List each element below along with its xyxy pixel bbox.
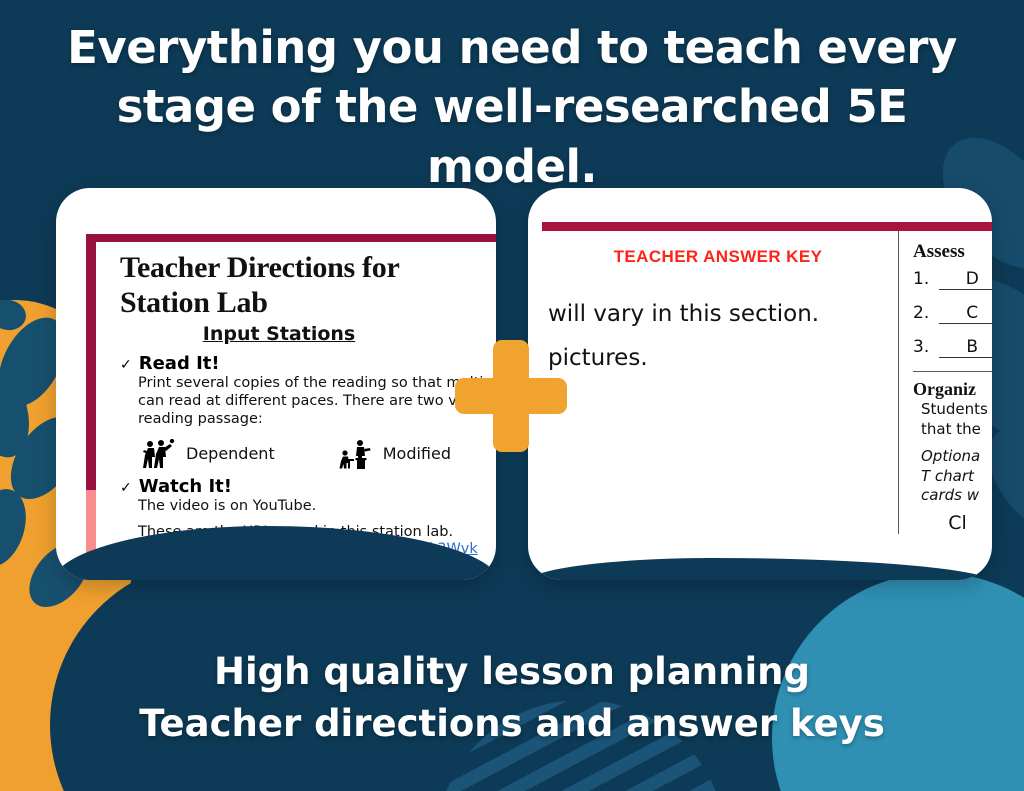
headline-line-1: Everything you need to teach every bbox=[26, 18, 998, 77]
organize-line: that the bbox=[913, 420, 992, 440]
version-icon-row: Dependent bbox=[120, 439, 496, 469]
answer-key-body-line-2: pictures. bbox=[542, 345, 898, 371]
answer-key-main-column: TEACHER ANSWER KEY will vary in this sec… bbox=[542, 231, 898, 534]
document-top-border bbox=[86, 234, 496, 242]
section-heading-label: Watch It! bbox=[139, 476, 232, 497]
left-preview-card[interactable]: Teacher Directions for Station Lab Input… bbox=[56, 188, 496, 580]
answer-key-body-line-1: will vary in this section. bbox=[542, 301, 898, 327]
footer-caption: High quality lesson planning Teacher dir… bbox=[0, 646, 1024, 751]
checkmark-icon: ✓ bbox=[120, 357, 132, 373]
section-text-line: can read at different paces. There are t… bbox=[138, 392, 496, 410]
organize-heading: Organiz bbox=[913, 379, 992, 400]
version-option-label: Dependent bbox=[186, 444, 275, 463]
optional-line: cards w bbox=[913, 486, 992, 506]
document-side-rail bbox=[86, 242, 96, 580]
answer-key-sidebar-column: Assess 1. D 2. C 3. B bbox=[898, 231, 992, 534]
answer-number: 2. bbox=[913, 303, 929, 323]
section-text-line: Print several copies of the reading so t… bbox=[138, 374, 496, 392]
answer-key-label: TEACHER ANSWER KEY bbox=[542, 247, 898, 267]
answer-row: 3. B bbox=[913, 337, 992, 358]
card-bottom-fade bbox=[528, 558, 992, 580]
teacher-at-podium-icon bbox=[339, 439, 373, 469]
document-title-line-2: Station Lab bbox=[120, 285, 496, 320]
optional-line: Optiona bbox=[913, 447, 992, 467]
answer-number: 1. bbox=[913, 269, 929, 289]
answer-number: 3. bbox=[913, 337, 929, 357]
answer-row: 1. D bbox=[913, 269, 992, 290]
document-subtitle: Input Stations bbox=[120, 323, 496, 345]
students-running-icon bbox=[142, 439, 176, 469]
section-text-read-it: Print several copies of the reading so t… bbox=[120, 374, 496, 429]
document-title-line-1: Teacher Directions for bbox=[120, 250, 496, 285]
section-text-watch-it: The video is on YouTube. bbox=[120, 497, 496, 515]
version-option-modified: Modified bbox=[339, 439, 451, 469]
section-text-line: reading passage: bbox=[138, 410, 496, 428]
answer-value: B bbox=[939, 337, 992, 358]
section-heading-label: Read It! bbox=[139, 353, 220, 374]
document-title: Teacher Directions for Station Lab bbox=[120, 250, 496, 321]
plus-horizontal-bar bbox=[455, 378, 567, 414]
document-top-border bbox=[542, 222, 992, 231]
closing-text: Cl bbox=[913, 512, 992, 534]
optional-line: T chart bbox=[913, 467, 992, 487]
version-option-dependent: Dependent bbox=[142, 439, 275, 469]
sidebar-divider bbox=[913, 371, 992, 372]
right-preview-card[interactable]: TEACHER ANSWER KEY will vary in this sec… bbox=[528, 188, 992, 580]
headline-line-2: stage of the well-researched 5E model. bbox=[26, 77, 998, 196]
answer-row: 2. C bbox=[913, 303, 992, 324]
teacher-answer-key-document: TEACHER ANSWER KEY will vary in this sec… bbox=[542, 222, 992, 534]
footer-line-2: Teacher directions and answer keys bbox=[0, 698, 1024, 751]
answer-value: C bbox=[939, 303, 992, 324]
answer-value: D bbox=[939, 269, 992, 290]
section-text-line: The video is on YouTube. bbox=[138, 497, 496, 515]
organize-line: Students bbox=[913, 400, 992, 420]
footer-line-1: High quality lesson planning bbox=[0, 646, 1024, 699]
section-heading-watch-it: ✓ Watch It! bbox=[120, 476, 496, 497]
checkmark-icon: ✓ bbox=[120, 480, 132, 496]
assess-heading: Assess bbox=[913, 241, 992, 263]
plus-icon bbox=[455, 340, 567, 452]
version-option-label: Modified bbox=[383, 444, 451, 463]
section-heading-read-it: ✓ Read It! bbox=[120, 353, 496, 374]
headline: Everything you need to teach every stage… bbox=[0, 18, 1024, 196]
assess-answer-list: 1. D 2. C 3. B bbox=[913, 269, 992, 358]
